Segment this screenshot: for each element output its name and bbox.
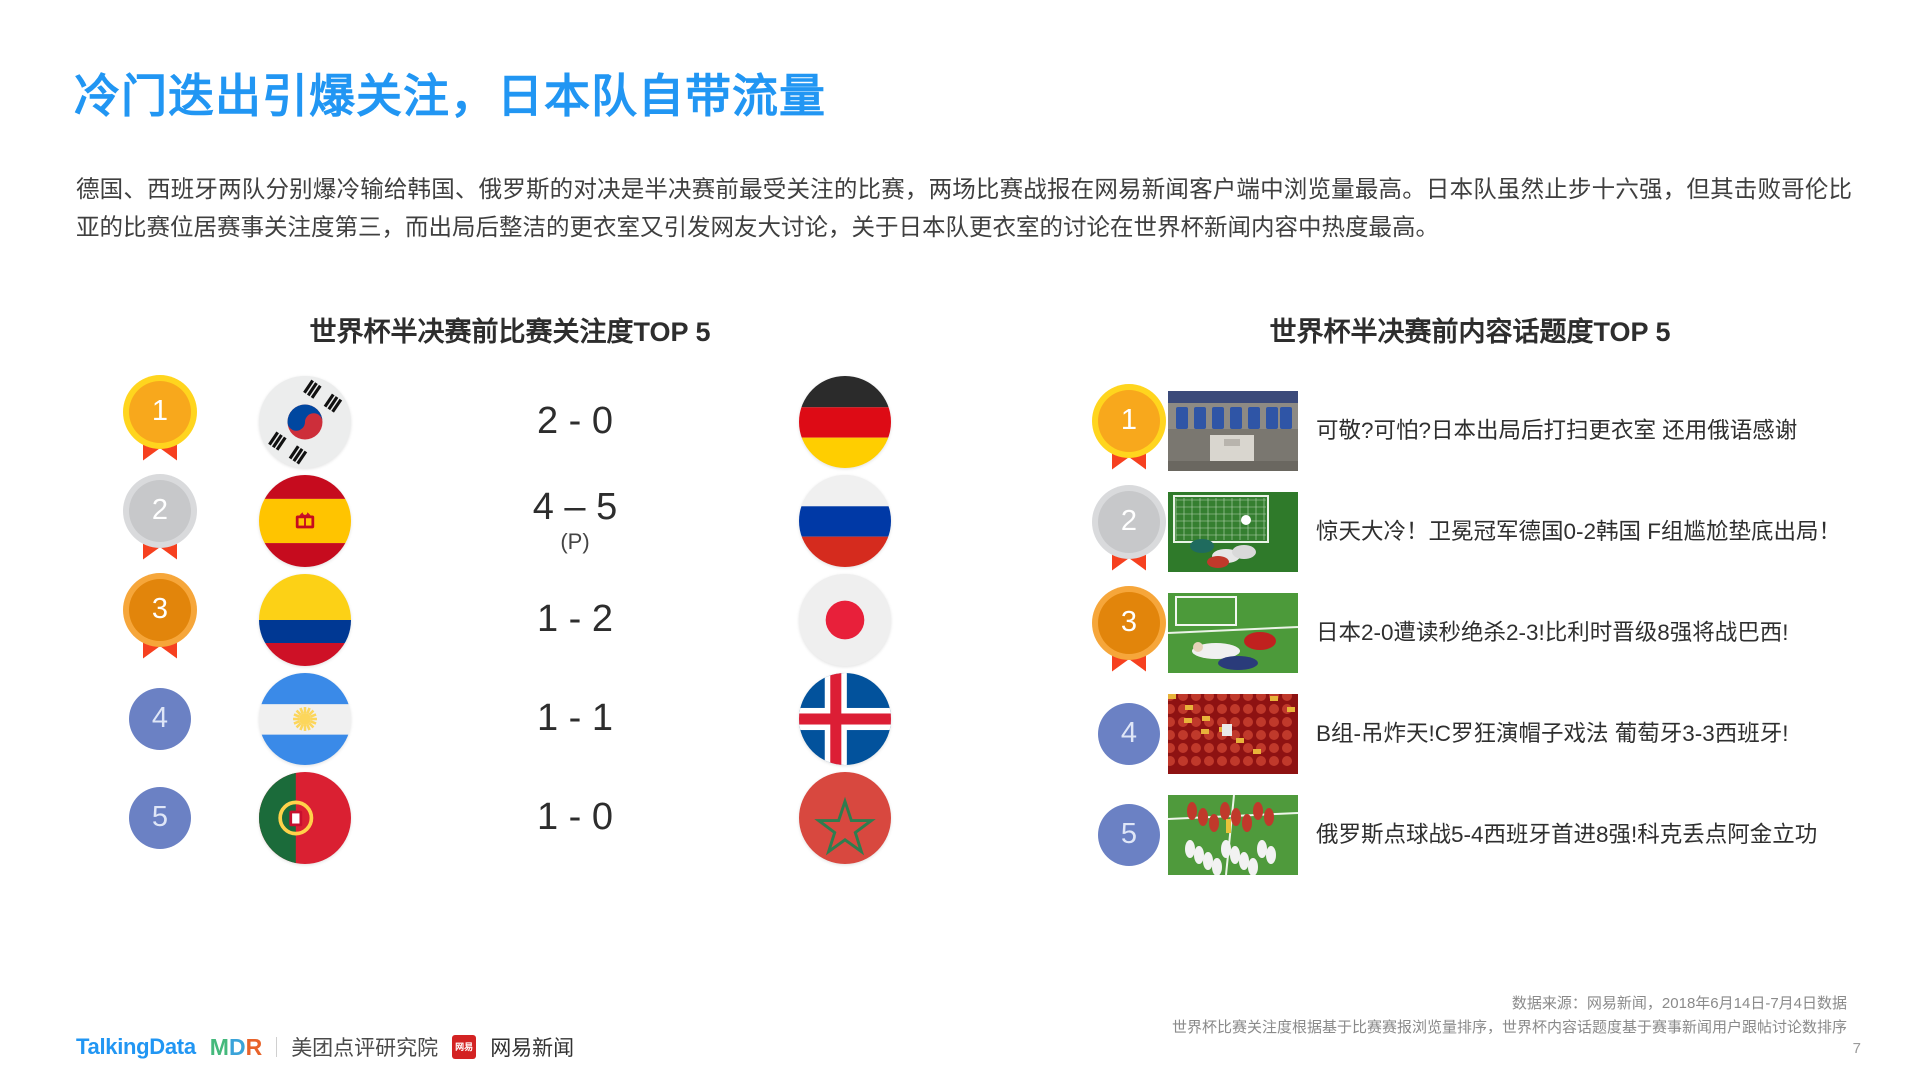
topic-row[interactable]: 4B组-吊炸天!C罗狂演帽子戏法 葡萄牙3-3西班牙! xyxy=(1090,683,1890,784)
match-score: 1 - 2 xyxy=(390,600,760,640)
russia-flag-icon xyxy=(799,475,891,567)
match-row: 31 - 2 xyxy=(100,570,930,669)
match-rank-circle: 5 xyxy=(129,787,191,849)
japan-flag-icon xyxy=(799,574,891,666)
home-team-flag xyxy=(220,475,390,567)
home-team-flag xyxy=(220,772,390,864)
topic-rank: 1 xyxy=(1090,390,1168,472)
topic-headline: 俄罗斯点球战5-4西班牙首进8强!科克丢点阿金立功 xyxy=(1316,819,1817,850)
topic-rank: 2 xyxy=(1090,491,1168,573)
match-rank: 5 xyxy=(100,787,220,849)
topic-rank: 5 xyxy=(1090,804,1168,866)
source-line-2: 世界杯比赛关注度根据基于比赛赛报浏览量排序，世界杯内容话题度基于赛事新闻用户跟帖… xyxy=(1172,1016,1847,1040)
left-section-heading: 世界杯半决赛前比赛关注度TOP 5 xyxy=(100,310,920,349)
intro-paragraph: 德国、西班牙两队分别爆冷输给韩国、俄罗斯的对决是半决赛前最受关注的比赛，两场比赛… xyxy=(76,170,1852,246)
away-team-flag xyxy=(760,772,930,864)
match-rank: 3 xyxy=(100,579,220,661)
footer-logos: TalkingData MDR 美团点评研究院 网易 网易新闻 xyxy=(76,1032,574,1062)
germany-flag-icon xyxy=(799,376,891,468)
match-rank: 2 xyxy=(100,480,220,562)
medal-disc: 3 xyxy=(1098,592,1160,654)
south-korea-flag-icon xyxy=(259,376,351,468)
medal-disc: 1 xyxy=(129,381,191,443)
page-title: 冷门迭出引爆关注，日本队自带流量 xyxy=(74,60,826,126)
mdr-letter-m: M xyxy=(210,1034,229,1060)
iceland-flag-icon xyxy=(799,673,891,765)
away-team-flag xyxy=(760,475,930,567)
match-rank-circle: 4 xyxy=(129,688,191,750)
colombia-flag-icon xyxy=(259,574,351,666)
home-team-flag xyxy=(220,376,390,468)
away-team-flag xyxy=(760,376,930,468)
match-row: 24 – 5(P) xyxy=(100,471,930,570)
logo-divider xyxy=(276,1037,277,1057)
medal-disc: 1 xyxy=(1098,390,1160,452)
topic-medal-icon: 3 xyxy=(1098,592,1160,674)
celebration-photo xyxy=(1168,795,1298,875)
away-team-flag xyxy=(760,673,930,765)
medal-disc: 3 xyxy=(129,579,191,641)
netease-news-logo: 网易新闻 xyxy=(490,1032,574,1062)
topic-headline: 可敬?可怕?日本出局后打扫更衣室 还用俄语感谢 xyxy=(1316,415,1797,446)
match-row: 41 - 1 xyxy=(100,669,930,768)
netease-mark-icon: 网易 xyxy=(452,1035,476,1059)
home-team-flag xyxy=(220,574,390,666)
match-medal-icon: 3 xyxy=(129,579,191,661)
source-line-1: 数据来源：网易新闻，2018年6月14日-7月4日数据 xyxy=(1172,992,1847,1016)
topic-rank: 3 xyxy=(1090,592,1168,674)
topic-headline: 惊天大冷！卫冕冠军德国0-2韩国 F组尴尬垫底出局！ xyxy=(1316,516,1841,547)
medal-disc: 2 xyxy=(129,480,191,542)
slide-page: 冷门迭出引爆关注，日本队自带流量 德国、西班牙两队分别爆冷输给韩国、俄罗斯的对决… xyxy=(0,0,1921,1080)
right-section-heading: 世界杯半决赛前内容话题度TOP 5 xyxy=(1060,310,1880,349)
topic-rank-circle: 5 xyxy=(1098,804,1160,866)
page-number: 7 xyxy=(1853,1040,1861,1057)
argentina-flag-icon xyxy=(259,673,351,765)
topic-medal-icon: 2 xyxy=(1098,491,1160,573)
match-medal-icon: 1 xyxy=(129,381,191,463)
match-score: 4 – 5(P) xyxy=(390,488,760,553)
topic-ranking-list: 1可敬?可怕?日本出局后打扫更衣室 还用俄语感谢2惊天大冷！卫冕冠军德国0-2韩… xyxy=(1090,380,1890,885)
home-team-flag xyxy=(220,673,390,765)
topic-rank-circle: 4 xyxy=(1098,703,1160,765)
topic-row[interactable]: 1可敬?可怕?日本出局后打扫更衣室 还用俄语感谢 xyxy=(1090,380,1890,481)
topic-row[interactable]: 2惊天大冷！卫冕冠军德国0-2韩国 F组尴尬垫底出局！ xyxy=(1090,481,1890,582)
mdr-letter-d: D xyxy=(229,1034,246,1060)
players-ground-photo xyxy=(1168,593,1298,673)
match-score: 1 - 0 xyxy=(390,798,760,838)
talkingdata-logo: TalkingData xyxy=(76,1034,196,1060)
match-rank: 4 xyxy=(100,688,220,750)
mdr-letter-r: R xyxy=(246,1034,263,1060)
portugal-flag-icon xyxy=(259,772,351,864)
locker-room-photo xyxy=(1168,391,1298,471)
away-team-flag xyxy=(760,574,930,666)
medal-disc: 2 xyxy=(1098,491,1160,553)
match-score-note: (P) xyxy=(390,530,760,553)
match-row: 51 - 0 xyxy=(100,768,930,867)
spain-flag-icon xyxy=(259,475,351,567)
topic-row[interactable]: 5俄罗斯点球战5-4西班牙首进8强!科克丢点阿金立功 xyxy=(1090,784,1890,885)
match-rank: 1 xyxy=(100,381,220,463)
match-row: 12 - 0 xyxy=(100,372,930,471)
goal-net-photo xyxy=(1168,492,1298,572)
morocco-flag-icon xyxy=(799,772,891,864)
topic-rank: 4 xyxy=(1090,703,1168,765)
match-ranking-list: 12 - 024 – 5(P)31 - 241 - 151 - 0 xyxy=(100,372,930,867)
mdr-logo: MDR xyxy=(210,1034,262,1061)
match-medal-icon: 2 xyxy=(129,480,191,562)
match-score: 2 - 0 xyxy=(390,402,760,442)
meituan-research-logo: 美团点评研究院 xyxy=(291,1032,438,1062)
topic-headline: 日本2-0遭读秒绝杀2-3!比利时晋级8强将战巴西! xyxy=(1316,617,1789,648)
data-source-note: 数据来源：网易新闻，2018年6月14日-7月4日数据 世界杯比赛关注度根据基于… xyxy=(1172,992,1847,1040)
match-score: 1 - 1 xyxy=(390,699,760,739)
topic-medal-icon: 1 xyxy=(1098,390,1160,472)
topic-headline: B组-吊炸天!C罗狂演帽子戏法 葡萄牙3-3西班牙! xyxy=(1316,718,1789,749)
topic-row[interactable]: 3日本2-0遭读秒绝杀2-3!比利时晋级8强将战巴西! xyxy=(1090,582,1890,683)
red-crowd-photo xyxy=(1168,694,1298,774)
